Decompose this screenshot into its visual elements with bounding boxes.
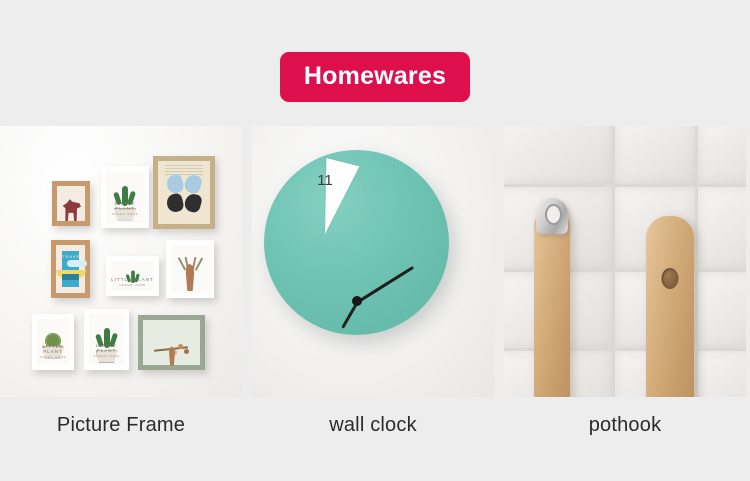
frame-cactus-1: LITTLE PLANTGREEN HOME bbox=[101, 166, 149, 228]
frame-art-caption: LITTLE PLANTGREEN HOME bbox=[89, 343, 124, 358]
frame-horse bbox=[52, 181, 90, 226]
seascape-title: TRAVEL bbox=[62, 254, 79, 259]
wall-tile bbox=[698, 272, 746, 348]
frame-mat bbox=[171, 245, 209, 293]
product-caption-picture-frame: Picture Frame bbox=[0, 414, 242, 437]
product-card-pothook[interactable]: pothook bbox=[504, 126, 746, 437]
wall-tile bbox=[698, 351, 746, 397]
product-card-picture-frame[interactable]: LITTLE PLANTGREEN HOME bbox=[0, 126, 242, 437]
category-badge: Homewares bbox=[280, 52, 470, 102]
frame-mat bbox=[57, 186, 85, 221]
frame-mat: LITTLE PLANTGREEN HOME bbox=[111, 261, 154, 291]
frame-mat: LITTLE PLANTGREEN HOME bbox=[37, 319, 69, 365]
clock-minute-hand bbox=[357, 266, 414, 303]
product-caption-wall-clock: wall clock bbox=[252, 414, 494, 437]
product-image-picture-frame[interactable]: LITTLE PLANTGREEN HOME bbox=[0, 126, 242, 397]
frame-mat: TRAVEL bbox=[56, 245, 85, 293]
wooden-handle-with-loop bbox=[534, 208, 570, 397]
frame-mat: LITTLE PLANTGREEN HOME bbox=[89, 314, 124, 365]
clock-face: 11 bbox=[264, 150, 449, 335]
tile-grout-line bbox=[695, 126, 698, 397]
frame-deer-2 bbox=[138, 315, 205, 370]
seascape-motif: TRAVEL bbox=[62, 251, 79, 287]
product-row: LITTLE PLANTGREEN HOME bbox=[0, 126, 750, 437]
frame-art-caption: LITTLE PLANTGREEN HOME bbox=[111, 277, 154, 287]
product-image-wall-clock[interactable]: 11 bbox=[252, 126, 494, 397]
homewares-category-banner: Homewares LITTLE PL bbox=[0, 0, 750, 481]
wall-tile bbox=[698, 126, 746, 184]
sea-band bbox=[62, 274, 79, 280]
wall-tile bbox=[615, 126, 695, 184]
product-caption-pothook: pothook bbox=[504, 414, 746, 437]
frame-sea: TRAVEL bbox=[51, 240, 90, 298]
product-image-pothook[interactable] bbox=[504, 126, 746, 397]
product-card-wall-clock[interactable]: 11 wall clock bbox=[252, 126, 494, 437]
handle-hanging-hole bbox=[662, 268, 679, 289]
badge-row: Homewares bbox=[0, 52, 750, 102]
black-butterfly-motif bbox=[167, 194, 201, 212]
frame-cactus-2: LITTLE PLANTGREEN HOME bbox=[106, 256, 159, 296]
clock-hour-number: 11 bbox=[308, 172, 342, 189]
wall-clock-illustration: 11 bbox=[252, 126, 494, 397]
wooden-handle-with-hole bbox=[646, 216, 694, 397]
dala-horse-motif bbox=[61, 199, 81, 221]
frame-art-caption: LITTLE PLANTGREEN HOME bbox=[106, 201, 144, 216]
wall-tile bbox=[504, 126, 612, 184]
frame-deer-1 bbox=[166, 240, 214, 298]
clock-hour-wedge bbox=[309, 158, 360, 238]
frame-mat bbox=[143, 320, 200, 365]
frame-mat: LITTLE PLANTGREEN HOME bbox=[106, 171, 144, 223]
frame-cactus-3: LITTLE PLANTGREEN HOME bbox=[84, 309, 129, 370]
script-texture bbox=[165, 165, 202, 175]
frame-succulent: LITTLE PLANTGREEN HOME bbox=[32, 314, 74, 370]
frame-art-caption: LITTLE PLANTGREEN HOME bbox=[37, 344, 69, 359]
clock-center-pin bbox=[352, 296, 362, 306]
pothook-illustration bbox=[504, 126, 746, 397]
frame-mat bbox=[158, 161, 210, 224]
tile-grout-line bbox=[612, 126, 615, 397]
blue-butterfly-motif bbox=[167, 175, 201, 193]
tile-grout-line bbox=[504, 184, 746, 187]
frame-butterfly bbox=[153, 156, 215, 229]
cloud-motif bbox=[67, 260, 87, 267]
gallery-wall-illustration: LITTLE PLANTGREEN HOME bbox=[0, 126, 242, 397]
wall-tile bbox=[698, 187, 746, 269]
metal-hanging-loop-icon bbox=[536, 198, 568, 234]
